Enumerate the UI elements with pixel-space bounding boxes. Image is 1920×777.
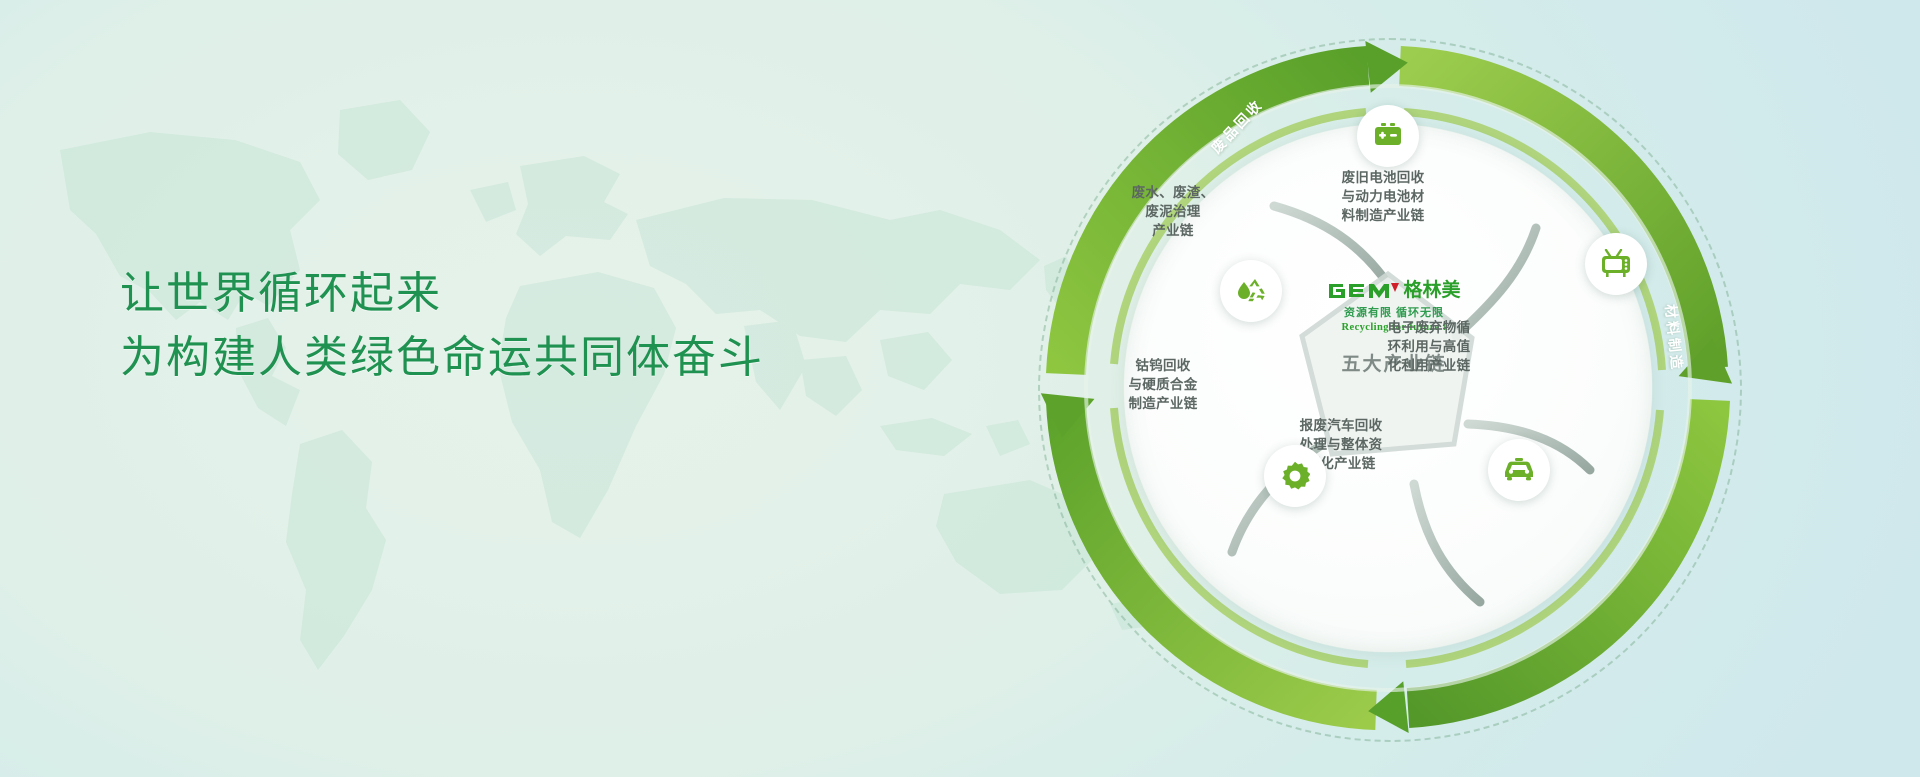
circular-economy-diagram: 废品回收 材料制造 装备制造业 再利用 [1008,8,1768,768]
chain-line: 钴钨回收 [1098,356,1228,375]
chain-label-waste-water: 废水、废渣、 废泥治理 产业链 [1108,183,1238,240]
chain-line: 与硬质合金 [1098,375,1228,394]
battery-icon [1373,121,1403,151]
recycle-drop-icon-bubble [1220,260,1282,322]
gear-icon-bubble [1264,445,1326,507]
chain-line: 废旧电池回收 [1318,168,1448,187]
gear-icon [1280,461,1310,491]
chain-line: 报废汽车回收 [1276,416,1406,435]
gem-chinese-name: 格林美 [1403,278,1460,304]
gem-wordmark: 格林美 [1304,278,1484,304]
chain-line: 料制造产业链 [1318,206,1448,225]
banner-stage: 让世界循环起来 为构建人类绿色命运共同体奋斗 [0,0,1920,777]
tv-icon-bubble [1585,233,1647,295]
chain-label-e-waste: 电子废弃物循 环利用与高值 化利用产业链 [1364,318,1494,375]
chain-line: 废泥治理 [1108,202,1238,221]
chain-line: 废水、废渣、 [1108,183,1238,202]
battery-icon-bubble [1357,105,1419,167]
chain-label-battery: 废旧电池回收 与动力电池材 料制造产业链 [1318,168,1448,225]
headline-line-1: 让世界循环起来 [120,269,442,318]
car-icon-bubble [1488,439,1550,501]
chain-line: 电子废弃物循 [1364,318,1494,337]
recycle-drop-icon [1235,276,1267,306]
gem-latin-logo-icon [1327,280,1399,302]
car-icon [1502,458,1536,482]
chain-line: 环利用与高值 [1364,337,1494,356]
tv-icon [1600,249,1632,279]
chain-line: 化利用产业链 [1364,356,1494,375]
chain-label-cobalt-tungsten: 钴钨回收 与硬质合金 制造产业链 [1098,356,1228,413]
headline: 让世界循环起来 为构建人类绿色命运共同体奋斗 [120,262,764,390]
chain-line: 制造产业链 [1098,394,1228,413]
chain-line: 产业链 [1108,221,1238,240]
headline-line-2: 为构建人类绿色命运共同体奋斗 [120,326,764,390]
chain-line: 与动力电池材 [1318,187,1448,206]
